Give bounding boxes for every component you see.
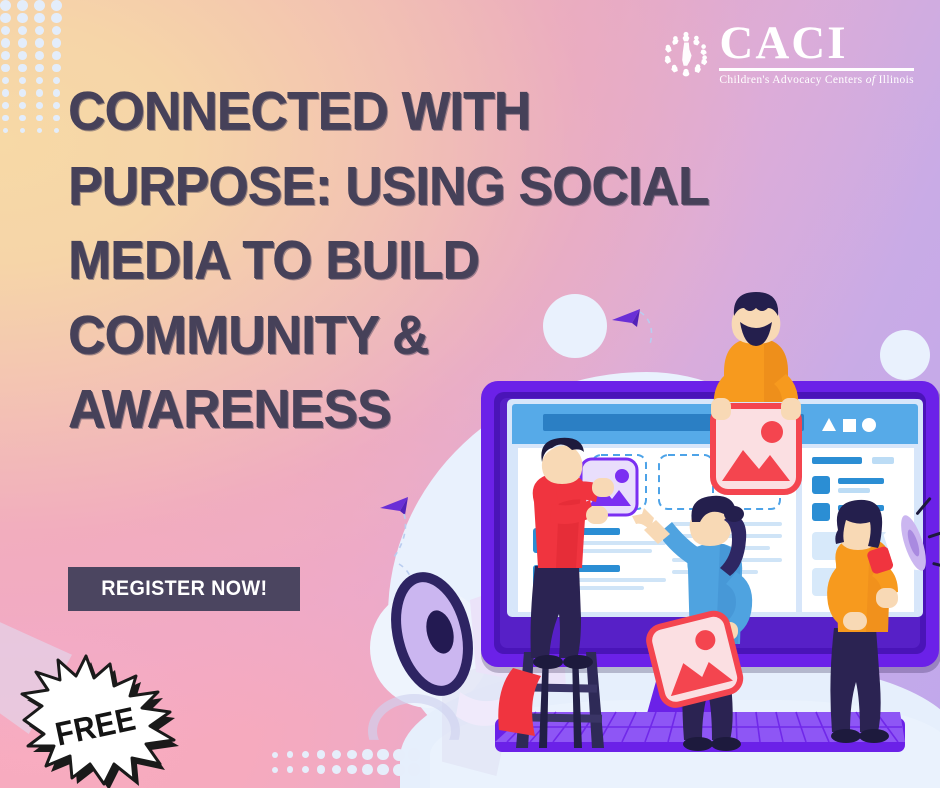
- free-starburst-badge: FREE: [14, 654, 182, 786]
- register-now-label: REGISTER NOW!: [101, 577, 267, 601]
- page-title: CONNECTED WITH PURPOSE: USING SOCIAL MED…: [68, 74, 714, 447]
- headline-line-1: CONNECTED WITH: [68, 74, 714, 149]
- register-now-button[interactable]: REGISTER NOW!: [68, 567, 300, 611]
- headline-line-4: COMMUNITY &: [68, 298, 714, 373]
- illinois-people-circle-icon: [662, 30, 710, 78]
- caci-logo-text: CACI Children's Advocacy Centers of Illi…: [719, 22, 914, 86]
- headline-line-3: MEDIA TO BUILD: [68, 223, 714, 298]
- caci-tagline-part2: Illinois: [879, 74, 914, 86]
- image-card-icon-red-held: [646, 611, 743, 708]
- character-bearded-man-top: [711, 292, 801, 420]
- caci-tagline: Children's Advocacy Centers of Illinois: [719, 74, 914, 86]
- caci-acronym: CACI: [719, 22, 914, 65]
- headline-line-2: PURPOSE: USING SOCIAL: [68, 149, 714, 224]
- poster-canvas: CACI Children's Advocacy Centers of Illi…: [0, 0, 940, 788]
- toolbar-shape-icons: [822, 418, 876, 432]
- caci-tagline-of: of: [866, 74, 876, 86]
- headline-line-5: AWARENESS: [68, 372, 714, 447]
- caci-tagline-part1: Children's Advocacy Centers: [719, 74, 862, 86]
- caci-logo-divider: [719, 68, 914, 71]
